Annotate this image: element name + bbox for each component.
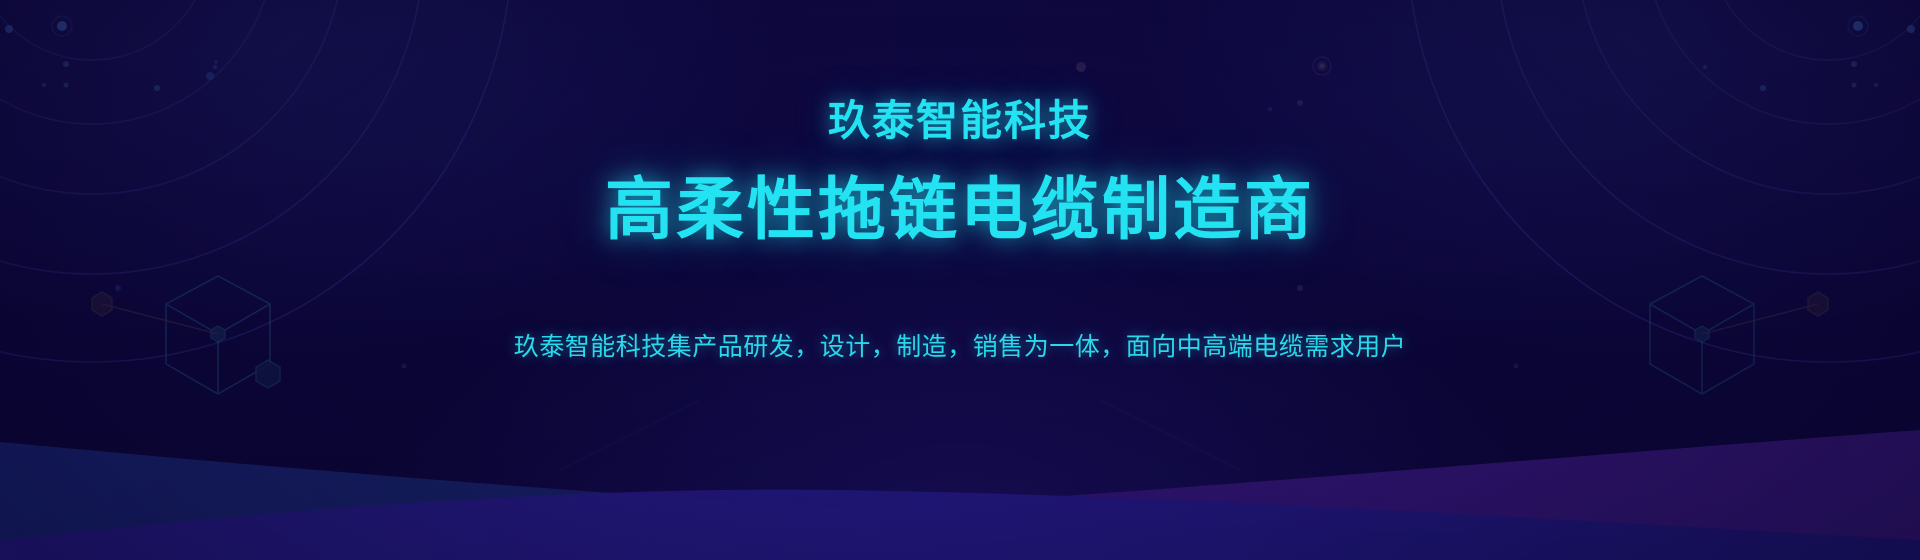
page-subtitle: 玖泰智能科技集产品研发，设计，制造，销售为一体，面向中高端电缆需求用户 xyxy=(514,332,1407,362)
page-title: 高柔性拖链电缆制造商 xyxy=(605,176,1315,244)
hero-banner: 玖泰智能科技 高柔性拖链电缆制造商 玖泰智能科技集产品研发，设计，制造，销售为一… xyxy=(0,0,1920,560)
hero-content: 玖泰智能科技 高柔性拖链电缆制造商 玖泰智能科技集产品研发，设计，制造，销售为一… xyxy=(0,0,1920,560)
company-name: 玖泰智能科技 xyxy=(828,100,1092,142)
